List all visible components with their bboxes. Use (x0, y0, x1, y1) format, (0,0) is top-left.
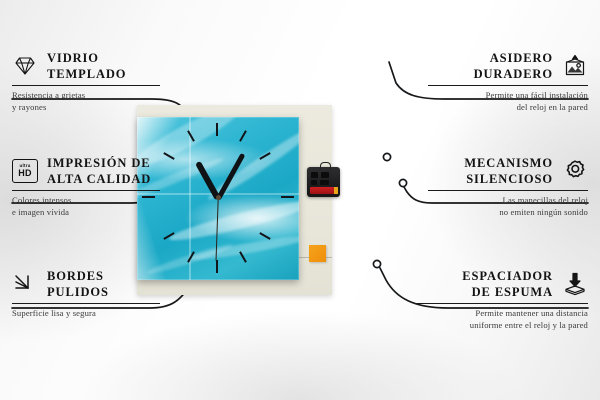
feature-description: Permite mantener una distancia uniforme … (416, 308, 588, 332)
ultra-hd-badge-icon: ultra HD (12, 159, 38, 183)
connector-dot-espaciador-espuma (373, 260, 380, 267)
feature-title: ASIDERO DURADERO (474, 50, 553, 82)
connector-dot-asidero-duradero (383, 153, 390, 160)
feature-divider (428, 85, 588, 86)
clock-tick-1 (239, 130, 247, 141)
hanging-picture-frame-icon (562, 53, 588, 79)
mechanism-detail (311, 172, 318, 178)
feature-divider (12, 85, 160, 86)
feature-title-line2: ALTA CALIDAD (47, 171, 151, 187)
wall-clock-front (137, 117, 299, 280)
feature-description: Superficie lisa y segura (12, 308, 160, 320)
feature-espaciador-espuma: ESPACIADOR DE ESPUMA Permite mantener un… (416, 268, 588, 332)
feature-bordes-pulidos: BORDES PULIDOS Superficie lisa y segura (12, 268, 160, 320)
feature-description: Colores intensos e imagen vívida (12, 195, 160, 219)
feature-header: ASIDERO DURADERO (428, 50, 588, 82)
feature-desc-line1: Las manecillas del reloj (428, 195, 588, 207)
feature-desc-line1: Colores intensos (12, 195, 160, 207)
feature-desc-line2: no emiten ningún sonido (428, 207, 588, 219)
polished-edges-icon (12, 271, 38, 297)
feature-header: VIDRIO TEMPLADO (12, 50, 160, 82)
feature-description: Las manecillas del reloj no emiten ningú… (428, 195, 588, 219)
feature-title: ESPACIADOR DE ESPUMA (462, 268, 553, 300)
feature-title: MECANISMO SILENCIOSO (464, 155, 553, 187)
feature-title: IMPRESIÓN DE ALTA CALIDAD (47, 155, 151, 187)
feature-impresion-alta-calidad: ultra HD IMPRESIÓN DE ALTA CALIDAD Color… (12, 155, 160, 219)
diamond-icon (12, 53, 38, 79)
clock-tick-12 (216, 123, 218, 136)
infographic-canvas: VIDRIO TEMPLADO Resistencia a grietas y … (0, 0, 600, 400)
feature-mecanismo-silencioso: MECANISMO SILENCIOSO Las manecillas del … (428, 155, 588, 219)
feature-divider (428, 190, 588, 191)
connector-dot-mecanismo-silencioso (399, 179, 406, 186)
clock-mechanism-back (307, 167, 340, 197)
badge-bottom-label: HD (18, 169, 31, 178)
feature-title: BORDES PULIDOS (47, 268, 109, 300)
clock-tick-3 (281, 196, 294, 198)
clock-tick-4 (259, 232, 270, 240)
feature-title-line2: SILENCIOSO (464, 171, 553, 187)
feature-header: MECANISMO SILENCIOSO (428, 155, 588, 187)
foam-spacer-sample (309, 245, 326, 262)
mechanism-hanger-hook (320, 162, 331, 170)
mechanism-detail (320, 180, 329, 185)
feature-title-line1: ESPACIADOR (462, 268, 553, 284)
feature-desc-line2: y rayones (12, 102, 160, 114)
feature-title-line2: TEMPLADO (47, 66, 126, 82)
product-photo (137, 105, 332, 295)
feature-title-line2: PULIDOS (47, 284, 109, 300)
feature-desc-line1: Resistencia a grietas (12, 90, 160, 102)
feature-title-line1: MECANISMO (464, 155, 553, 171)
feature-desc-line2: e imagen vívida (12, 207, 160, 219)
feature-desc-line2: del reloj en la pared (428, 102, 588, 114)
battery-plus-terminal (334, 187, 338, 194)
mechanism-battery (310, 187, 335, 194)
feature-title-line1: BORDES (47, 268, 109, 284)
gear-icon (562, 158, 588, 184)
feature-divider (416, 303, 588, 304)
feature-vidrio-templado: VIDRIO TEMPLADO Resistencia a grietas y … (12, 50, 160, 114)
feature-desc-line1: Superficie lisa y segura (12, 308, 160, 320)
feature-header: ultra HD IMPRESIÓN DE ALTA CALIDAD (12, 155, 160, 187)
feature-asidero-duradero: ASIDERO DURADERO Permite una fácil insta… (428, 50, 588, 114)
mechanism-detail (311, 180, 317, 185)
feature-title-line1: ASIDERO (474, 50, 553, 66)
mechanism-detail (321, 172, 329, 178)
feature-title-line2: DE ESPUMA (462, 284, 553, 300)
feature-desc-line1: Permite una fácil instalación (428, 90, 588, 102)
feature-description: Permite una fácil instalación del reloj … (428, 90, 588, 114)
feature-header: BORDES PULIDOS (12, 268, 160, 300)
clock-center-hub (216, 195, 221, 200)
feature-divider (12, 190, 160, 191)
feature-header: ESPACIADOR DE ESPUMA (416, 268, 588, 300)
feature-title-line1: IMPRESIÓN DE (47, 155, 151, 171)
foam-spacer-arrow-icon (562, 271, 588, 297)
feature-title-line1: VIDRIO (47, 50, 126, 66)
feature-divider (12, 303, 160, 304)
feature-title: VIDRIO TEMPLADO (47, 50, 126, 82)
clock-tick-6 (216, 260, 218, 273)
feature-desc-line2: uniforme entre el reloj y la pared (416, 320, 588, 332)
feature-title-line2: DURADERO (474, 66, 553, 82)
feature-description: Resistencia a grietas y rayones (12, 90, 160, 114)
feature-desc-line1: Permite mantener una distancia (416, 308, 588, 320)
